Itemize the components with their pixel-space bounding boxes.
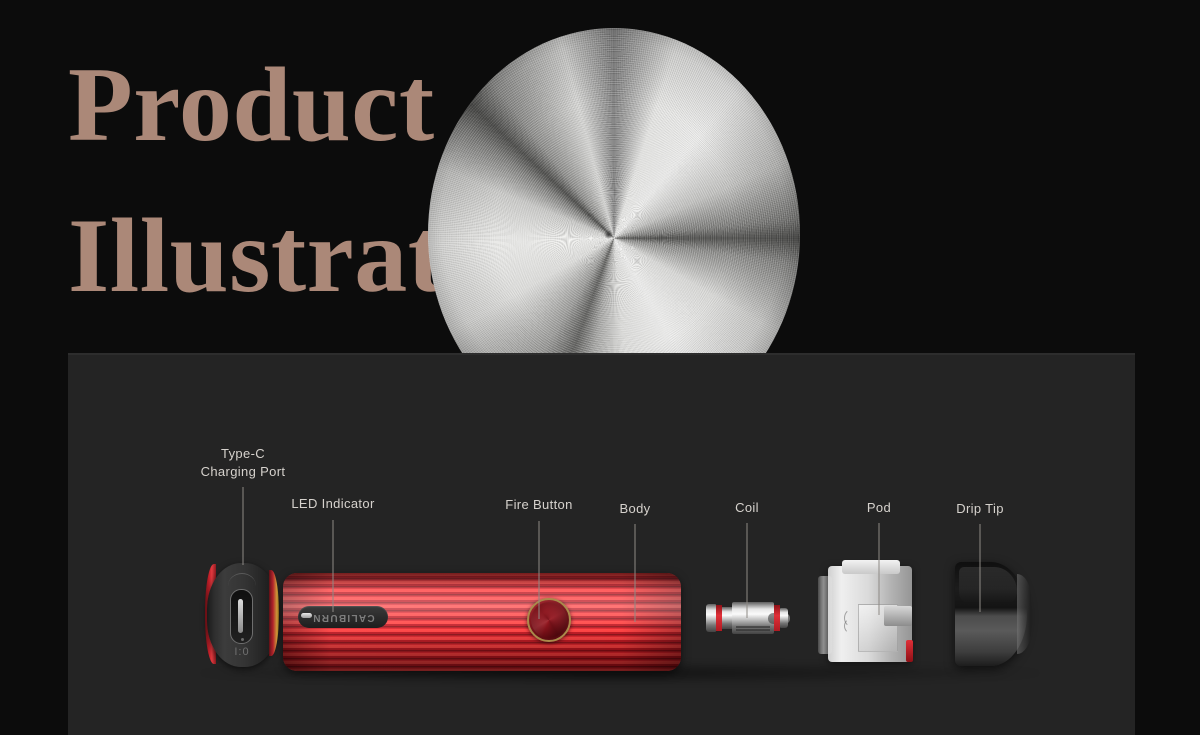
callout-leader-pod	[879, 523, 880, 615]
callout-label-coil: Coil	[735, 499, 759, 517]
callout-label-led-indicator: LED Indicator	[291, 495, 374, 513]
callout-leader-coil	[747, 523, 748, 618]
callout-label-fire-button: Fire Button	[505, 496, 572, 514]
callout-label-body: Body	[619, 500, 650, 518]
callout-leader-fire-button	[539, 521, 540, 619]
product-illustration-page: Product Illustration Product Illustratio…	[0, 0, 1200, 735]
callout-label-type-c-charging-port: Type-C Charging Port	[201, 445, 286, 480]
page-title-line-1: Product	[68, 52, 435, 158]
callout-label-pod: Pod	[867, 499, 891, 517]
callout-leader-type-c-charging-port	[243, 487, 244, 565]
hero-section: Product Illustration Product Illustratio…	[0, 0, 1200, 355]
panel-top-edge	[68, 353, 1135, 355]
page-title-line-2: Illustration	[68, 203, 586, 309]
callout-leader-body	[635, 524, 636, 622]
callout-leader-drip-tip	[980, 524, 981, 612]
diagram-panel	[68, 353, 1135, 735]
disc-center-point	[604, 230, 613, 239]
callout-leader-led-indicator	[333, 520, 334, 612]
callout-label-drip-tip: Drip Tip	[956, 500, 1004, 518]
